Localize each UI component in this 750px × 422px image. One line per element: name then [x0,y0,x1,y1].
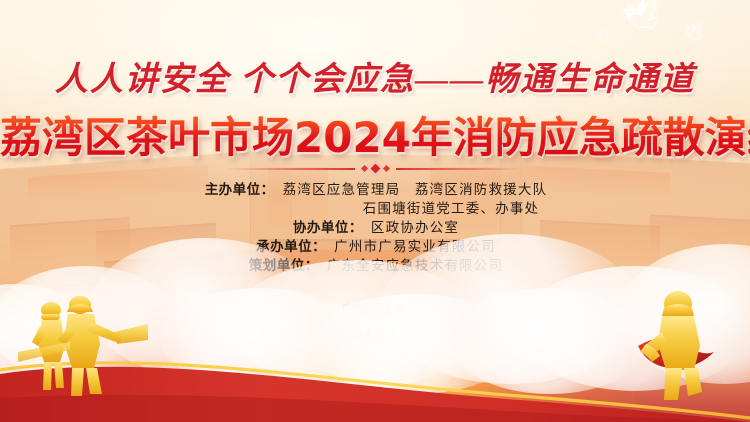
divider-rule-right [396,168,526,170]
organizer-label: 策划单位： [247,256,319,275]
organizer-row: 策划单位： 广东全安应急技术有限公司 [247,256,503,275]
organizer-row: 主办单位： 荔湾区应急管理局 荔湾区消防救援大队 [203,180,548,199]
organizer-value: 荔湾区应急管理局 荔湾区消防救援大队 [283,180,548,199]
organizer-label: 协办单位： [291,218,363,237]
firefighter-silhouette-left [18,284,148,404]
page-title: 荔湾区茶叶市场2024年消防应急疏散演练 [0,104,750,165]
diamond-ornament-icon [362,163,389,174]
organizer-list: 主办单位： 荔湾区应急管理局 荔湾区消防救援大队 石围塘街道党工委、办事处 协办… [0,180,750,275]
organizer-row: 石围塘街道党工委、办事处 [211,199,539,218]
fire-drill-poster: 🕊 🕊 🕊 人人讲安全 个个会应急——畅通生命通道 荔湾区茶叶市场2024年消防… [0,0,750,422]
organizer-label: 主办单位： [203,180,275,199]
firefighter-silhouette-right [632,288,718,404]
organizer-label: 承办单位： [254,237,326,256]
dove-icon: 🕊 [621,0,665,36]
organizer-row: 承办单位： 广州市广易实业有限公司 [254,237,496,256]
organizer-value: 广州市广易实业有限公司 [334,237,496,256]
organizer-value: 石围塘街道党工委、办事处 [363,199,539,218]
organizer-value: 广东全安应急技术有限公司 [327,256,503,275]
divider [225,163,525,174]
organizer-value: 区政协办公室 [371,218,459,237]
organizer-row: 协办单位： 区政协办公室 [291,218,459,237]
slogan-text: 人人讲安全 个个会应急——畅通生命通道 [0,52,750,100]
dove-icon: 🕊 [683,25,705,44]
divider-rule-left [225,168,355,170]
dove-icon: 🕊 [593,28,611,44]
